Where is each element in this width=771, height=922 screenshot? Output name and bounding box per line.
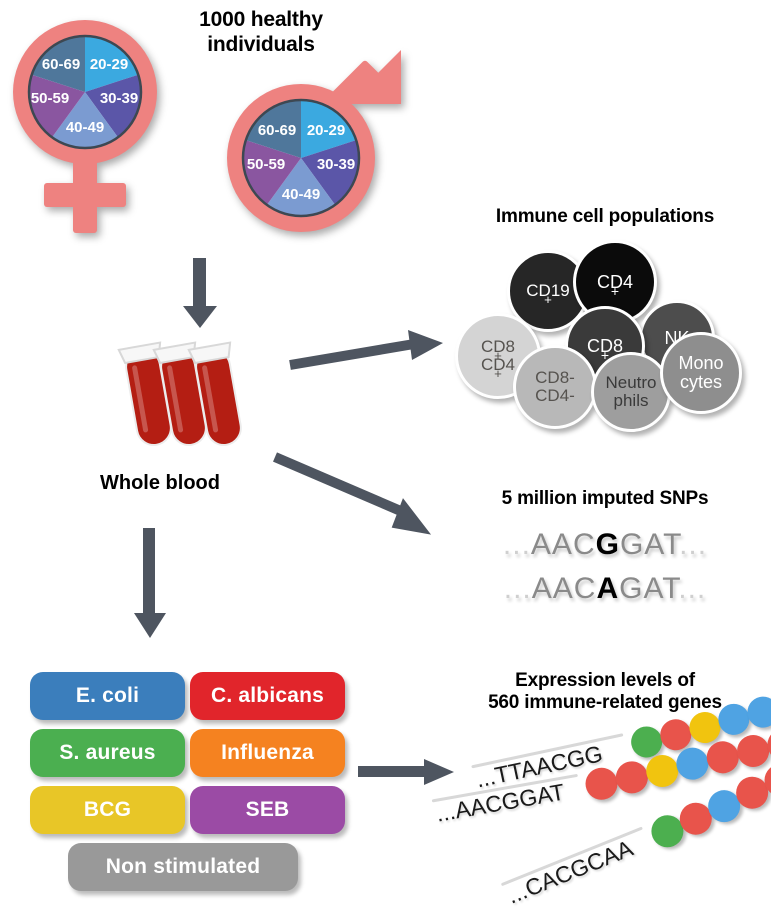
immune-section-title: Immune cell populations: [450, 206, 760, 228]
stimuli-panel: E. coliC. albicansS. aureusInfluenzaBCGS…: [30, 672, 350, 902]
figure-canvas: 1000 healthy individuals 20-29 30-39: [0, 0, 771, 922]
male-slice-label-50-59: 50-59: [247, 156, 285, 173]
immune-cell-label: CD4-: [535, 387, 575, 405]
immune-cell-cluster: CD19+CD4+NKCD8+CD4+CD8+CD8-CD4-Neutrophi…: [455, 240, 765, 440]
stimulus-label: BCG: [84, 798, 131, 822]
immune-cell-label: CD8-: [535, 369, 575, 387]
female-slice-label-20-29: 20-29: [90, 56, 128, 73]
male-slice-label-60-69: 60-69: [258, 122, 296, 139]
whole-blood-label: Whole blood: [60, 472, 260, 495]
male-slice-label-30-39: 30-39: [317, 156, 355, 173]
stimulus-influenza[interactable]: Influenza: [190, 729, 345, 777]
stimulus-label: Influenza: [221, 741, 314, 765]
arrow-cohort-to-blood: [178, 258, 222, 330]
snp-section-title: 5 million imputed SNPs: [450, 488, 760, 510]
stimulus-label: SEB: [246, 798, 290, 822]
snp-variant-base: G: [596, 528, 620, 561]
cohort-title-line1: 1000 healthy: [166, 8, 356, 33]
immune-cell-monocytes: Monocytes: [660, 332, 742, 414]
snp-sequence-line: ...AACAGAT...: [455, 572, 755, 606]
arrow-blood-to-stimuli: [128, 528, 172, 640]
immune-cell-label: CD4+: [481, 356, 515, 374]
stimulus-nonstimulated[interactable]: Non stimulated: [68, 843, 298, 891]
gene-bead-blue: [674, 746, 711, 783]
stimulus-seb[interactable]: SEB: [190, 786, 345, 834]
female-slice-label-60-69: 60-69: [42, 56, 80, 73]
strand-sequence: ...AACGGAT: [434, 779, 567, 828]
gene-strands-panel: ...TTAACGG...AACGGAT...CACGCAA: [430, 740, 771, 922]
arrow-blood-to-snps: [272, 452, 442, 542]
immune-cell-label: CD8+: [587, 337, 623, 356]
expression-title-line1: Expression levels of: [440, 670, 770, 692]
immune-cell-label: phils: [605, 392, 656, 410]
male-slice-label-20-29: 20-29: [307, 122, 345, 139]
stimulus-saureus[interactable]: S. aureus: [30, 729, 185, 777]
stimulus-label: Non stimulated: [106, 855, 260, 879]
blood-tubes-icon: [105, 330, 255, 465]
immune-cell-label: CD19+: [526, 282, 569, 300]
immune-cell-label: CD8+: [481, 338, 515, 356]
stimulus-label: E. coli: [76, 684, 139, 708]
immune-cell-label: CD4+: [597, 273, 633, 292]
immune-cell-cd8cd4: CD8-CD4-: [513, 345, 597, 429]
immune-cell-neutrophils: Neutrophils: [591, 352, 671, 432]
strand-sequence: ...CACGCAA: [503, 835, 636, 910]
male-symbol: 20-29 30-39 40-49 50-59 60-69: [205, 45, 410, 245]
female-slice-label-40-49: 40-49: [66, 119, 104, 136]
male-slice-label-40-49: 40-49: [282, 186, 320, 203]
stimulus-label: C. albicans: [211, 684, 324, 708]
female-slice-label-30-39: 30-39: [100, 90, 138, 107]
arrow-blood-to-immune: [288, 330, 448, 380]
gene-bead-red: [583, 765, 620, 802]
gene-bead-red: [613, 759, 650, 796]
snp-variant-base: A: [596, 572, 619, 605]
stimulus-label: S. aureus: [59, 741, 155, 765]
stimulus-bcg[interactable]: BCG: [30, 786, 185, 834]
snp-sequence-block: ...AACGGAT......AACAGAT...: [455, 528, 755, 618]
stimulus-ecoli[interactable]: E. coli: [30, 672, 185, 720]
female-symbol: 20-29 30-39 40-49 50-59 60-69: [8, 15, 188, 245]
female-slice-label-50-59: 50-59: [31, 90, 69, 107]
snp-sequence-line: ...AACGGAT...: [455, 528, 755, 562]
immune-cell-label: Mono: [678, 354, 723, 373]
immune-cell-label: cytes: [678, 373, 723, 392]
immune-cell-label: Neutro: [605, 374, 656, 392]
gene-bead-yellow: [644, 752, 681, 789]
stimulus-calbicans[interactable]: C. albicans: [190, 672, 345, 720]
